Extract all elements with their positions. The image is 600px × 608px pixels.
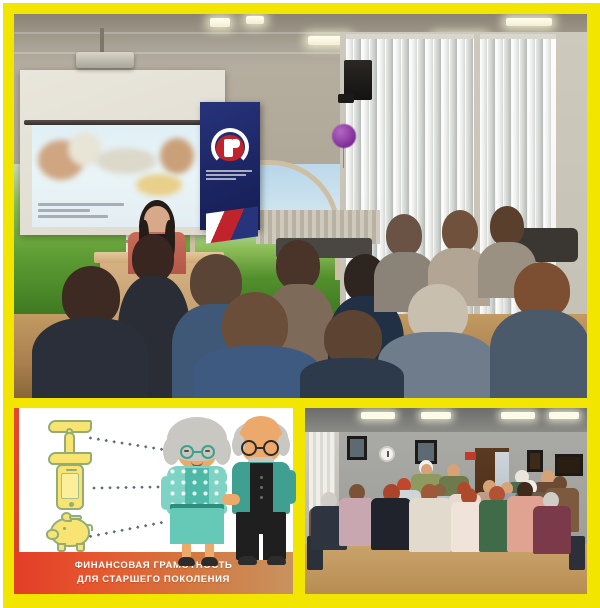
balloon-string bbox=[343, 146, 344, 168]
chair bbox=[569, 536, 585, 570]
hands-giving-money-icon bbox=[64, 432, 75, 454]
woman-eye bbox=[205, 450, 210, 452]
woman-glasses-icon bbox=[201, 445, 215, 459]
ceiling-lamp bbox=[501, 412, 535, 419]
audience-head bbox=[442, 210, 478, 252]
man-button bbox=[260, 486, 263, 489]
dotted-arrow bbox=[86, 520, 165, 538]
audience-head bbox=[62, 266, 120, 326]
man-glasses-bridge bbox=[256, 447, 264, 449]
audience-shoulders bbox=[490, 310, 587, 398]
audience-head bbox=[132, 234, 174, 282]
framed-picture bbox=[347, 436, 367, 460]
audience-shoulders bbox=[300, 358, 404, 398]
ceiling-lamp bbox=[246, 16, 264, 24]
woman-shoe bbox=[178, 557, 195, 566]
wall-clock bbox=[379, 446, 395, 462]
exit-sign bbox=[465, 452, 476, 460]
balloon bbox=[332, 124, 356, 148]
woman-shoe bbox=[201, 557, 218, 566]
ceiling-lamp bbox=[421, 412, 451, 419]
woman-glasses-icon bbox=[180, 445, 194, 459]
smartphone-icon bbox=[56, 464, 84, 510]
projector-mount bbox=[100, 28, 104, 54]
man-shoe bbox=[238, 556, 257, 565]
man-trousers-gap bbox=[259, 534, 263, 560]
presentation-slide bbox=[32, 122, 220, 227]
audience-shoulders bbox=[32, 318, 148, 398]
framed-picture bbox=[555, 454, 583, 476]
photo-collage: ФИНАНСОВАЯ ГРАМОТНОСТЬ ДЛЯ СТАРШЕГО ПОКО… bbox=[0, 0, 600, 608]
group-photo bbox=[305, 408, 587, 594]
dotted-arrow bbox=[90, 485, 164, 489]
person-body bbox=[339, 498, 375, 546]
collage-left-margin bbox=[0, 0, 3, 608]
framed-picture bbox=[527, 450, 543, 472]
caption-line-2: ДЛЯ СТАРШЕГО ПОКОЛЕНИЯ bbox=[77, 573, 230, 587]
accent-strip bbox=[14, 408, 19, 556]
person-body bbox=[533, 506, 571, 554]
man-button bbox=[260, 496, 263, 499]
man-shoe bbox=[267, 556, 286, 565]
pension-fund-banner bbox=[200, 102, 260, 230]
speaker-bracket bbox=[338, 94, 354, 103]
banner-text-lines bbox=[206, 170, 254, 182]
ceiling-lamp bbox=[210, 18, 230, 27]
audience-head bbox=[386, 214, 422, 256]
piggy-bank-icon bbox=[50, 517, 90, 547]
man-hair bbox=[277, 434, 290, 456]
woman-hair bbox=[167, 417, 227, 461]
held-hands bbox=[222, 494, 240, 505]
woman-eye bbox=[184, 450, 189, 452]
man-bald-head bbox=[243, 416, 279, 442]
man-glasses-icon bbox=[241, 440, 257, 456]
audience-head bbox=[276, 240, 320, 290]
projector bbox=[76, 52, 134, 68]
woman-glasses-bridge bbox=[194, 451, 201, 453]
man-button bbox=[260, 476, 263, 479]
person-body bbox=[409, 498, 451, 552]
collage-top-margin bbox=[0, 0, 600, 3]
ceiling-lamp bbox=[549, 412, 579, 419]
man-glasses-icon bbox=[263, 440, 279, 456]
projector-screen bbox=[20, 70, 225, 235]
lecture-photo bbox=[14, 14, 587, 398]
woman-skirt bbox=[170, 508, 224, 544]
slide-text-lines bbox=[38, 203, 128, 221]
ceiling-lamp bbox=[361, 412, 395, 419]
audience-head bbox=[490, 206, 524, 246]
pension-fund-emblem-icon bbox=[211, 128, 249, 166]
screen-roller bbox=[24, 120, 222, 125]
dotted-arrow bbox=[86, 436, 164, 451]
ceiling-lamp bbox=[506, 18, 552, 26]
person-body bbox=[371, 498, 411, 550]
